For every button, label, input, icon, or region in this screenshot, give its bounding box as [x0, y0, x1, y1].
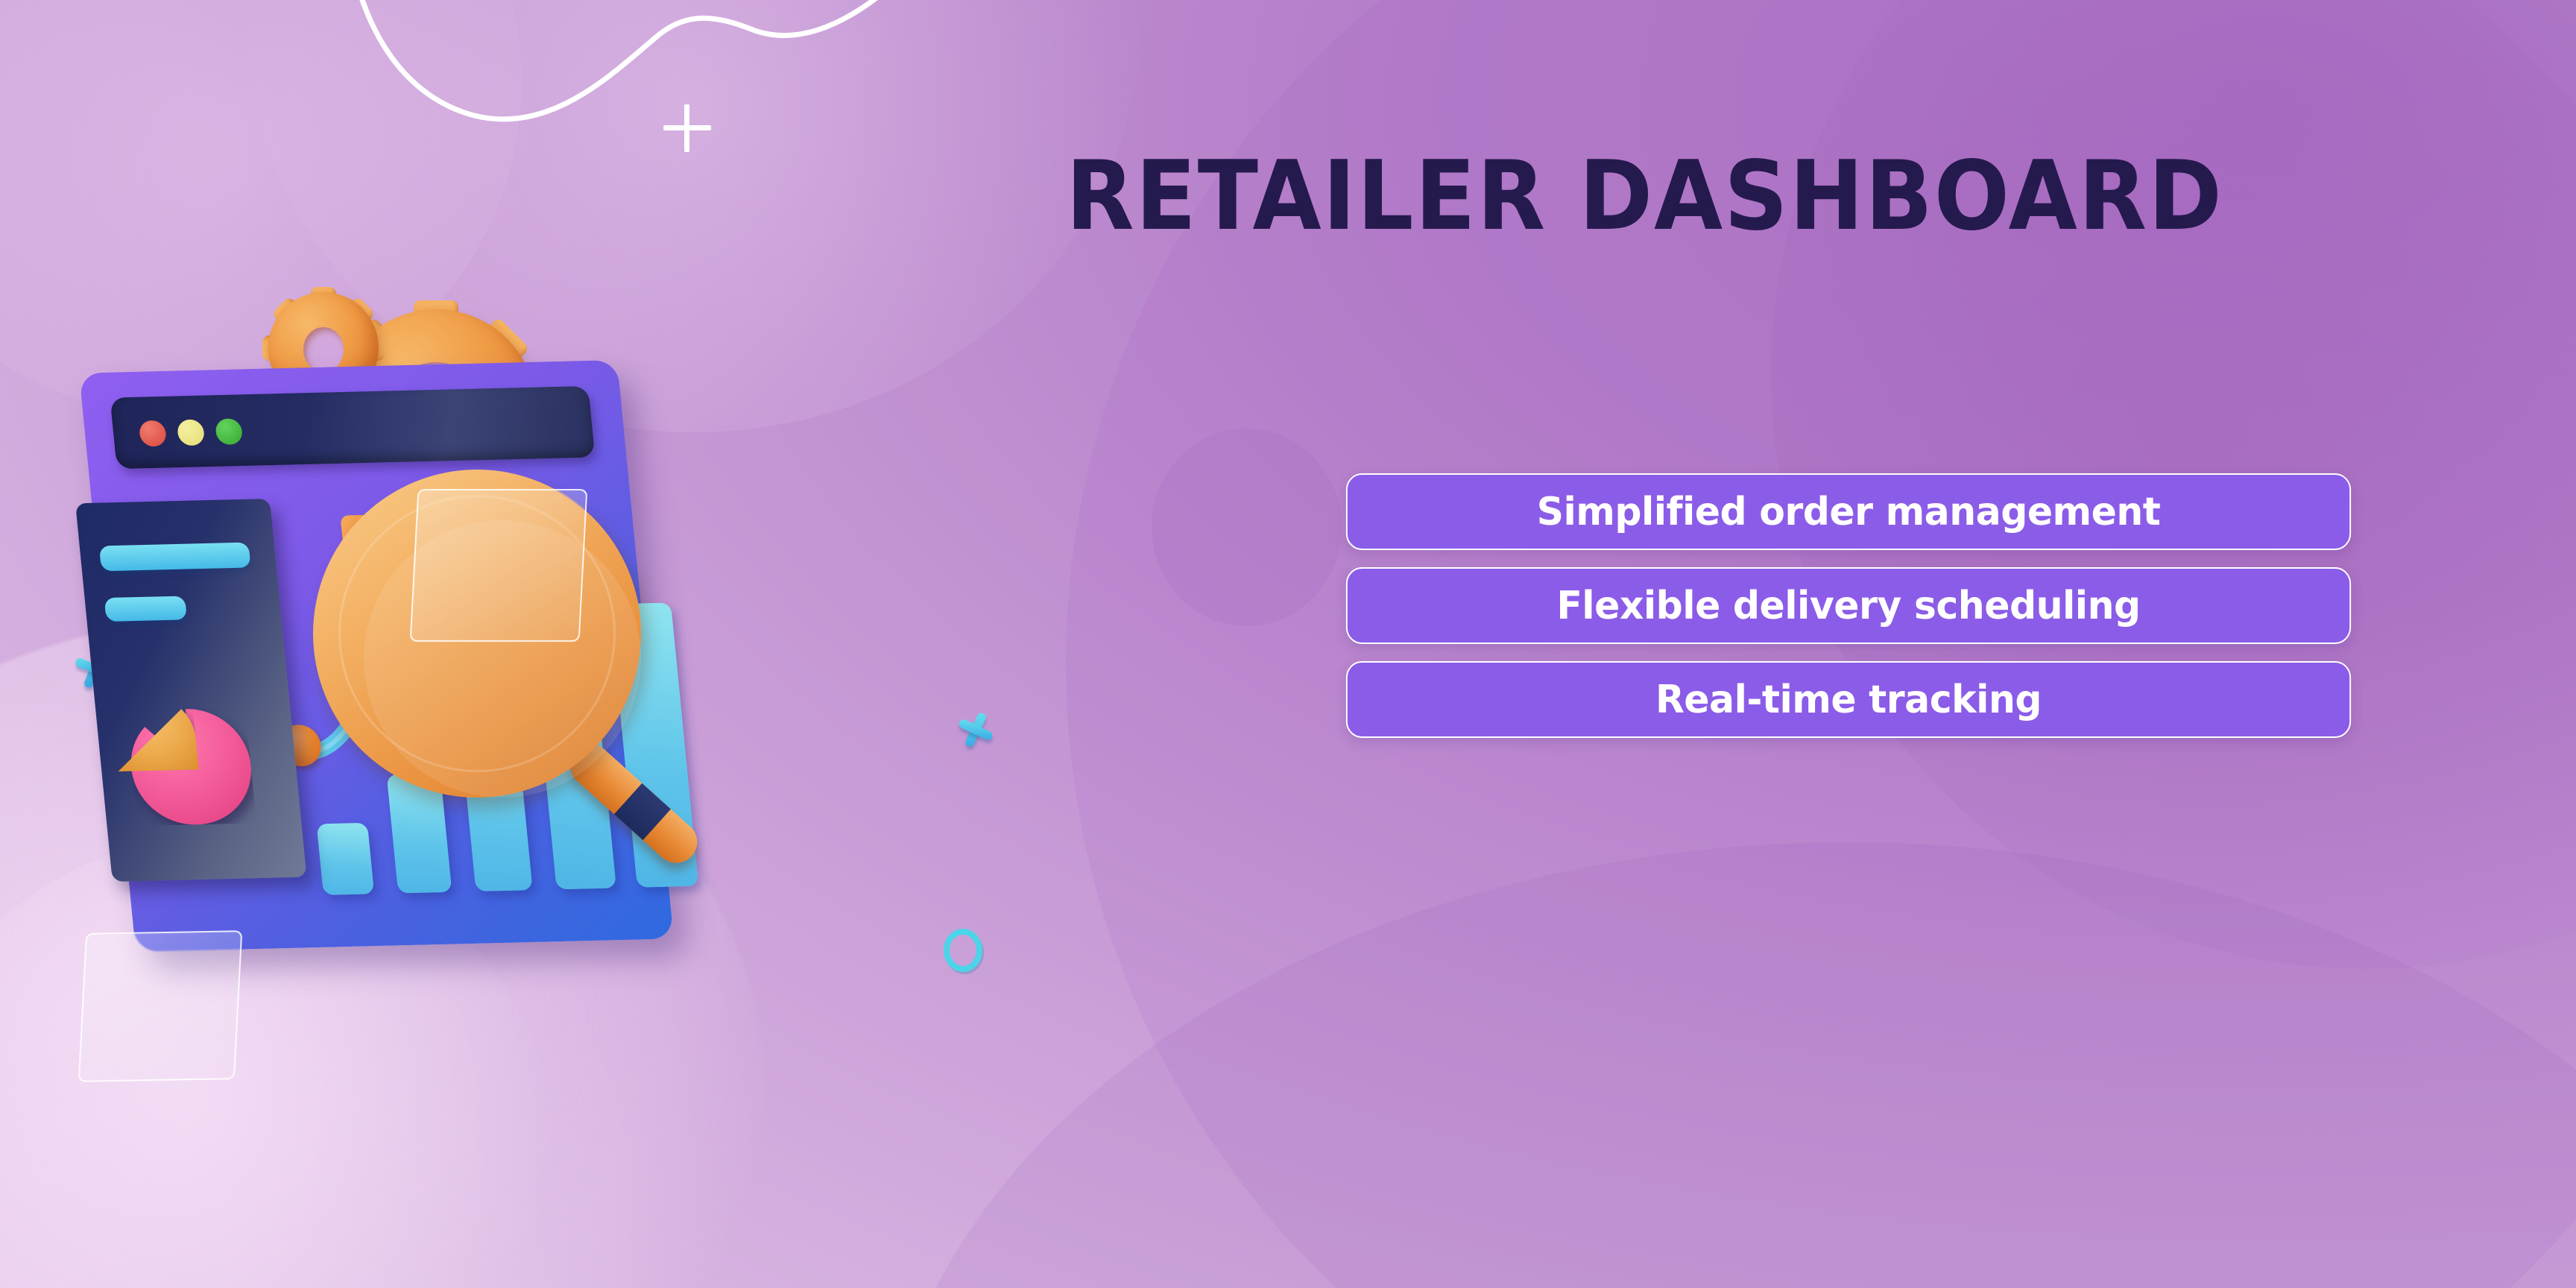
- glass-panel-top: [410, 489, 588, 642]
- traffic-light-close-icon: [139, 420, 167, 447]
- pie-slice-accent: [110, 692, 198, 771]
- background-circle-accent: [1152, 429, 1342, 626]
- poster-canvas: RETAILER DASHBOARD Simplified order mana…: [0, 0, 2576, 1288]
- glass-panel-bottom: [78, 930, 243, 1082]
- feature-button-flexible-delivery-scheduling[interactable]: Flexible delivery scheduling: [1346, 567, 2351, 644]
- wave-line-decoration: [298, 0, 969, 194]
- traffic-light-minimize-icon: [177, 419, 205, 446]
- window-titlebar: [110, 386, 595, 469]
- dashboard-illustration: [45, 283, 1044, 1126]
- feature-button-simplified-order-management[interactable]: Simplified order management: [1346, 473, 2351, 550]
- page-title: RETAILER DASHBOARD: [1066, 149, 2383, 244]
- feature-button-real-time-tracking[interactable]: Real-time tracking: [1346, 661, 2351, 738]
- pie-chart-icon: [110, 691, 262, 827]
- feature-list: Simplified order management Flexible del…: [1330, 473, 2367, 738]
- traffic-light-maximize-icon: [215, 418, 243, 445]
- sidebar-bar-short: [104, 596, 187, 621]
- dashboard-side-card: [75, 499, 306, 882]
- background-swoosh-lower: [880, 842, 2576, 1288]
- sidebar-bar-long: [99, 543, 251, 572]
- plus-icon: [663, 104, 711, 152]
